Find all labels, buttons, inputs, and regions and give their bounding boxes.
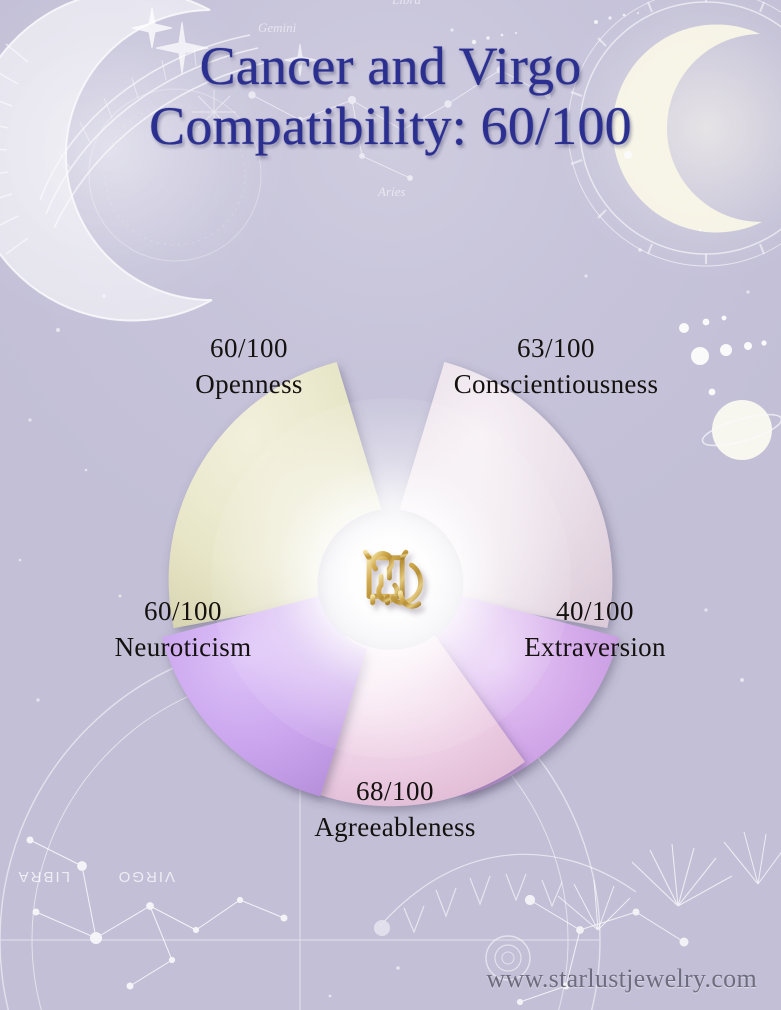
- compatibility-pie-chart: 60/100 Openness 63/100 Conscientiousness…: [28, 215, 753, 940]
- title-line-2: Compatibility: 60/100: [0, 96, 781, 156]
- title-line-1: Cancer and Virgo: [0, 36, 781, 96]
- svg-text:Libra: Libra: [391, 0, 421, 7]
- svg-text:Gemini: Gemini: [258, 20, 297, 35]
- poster-title: Cancer and Virgo Compatibility: 60/100: [0, 36, 781, 156]
- crescent-moon-bottom-center: [196, 952, 268, 1010]
- cancer-virgo-zodiac-pendant-icon: [347, 532, 439, 624]
- compatibility-poster: Gemini Aries Libra: [0, 0, 781, 1010]
- website-url: www.starlustjewelry.com: [486, 964, 757, 994]
- svg-text:Aries: Aries: [377, 184, 405, 199]
